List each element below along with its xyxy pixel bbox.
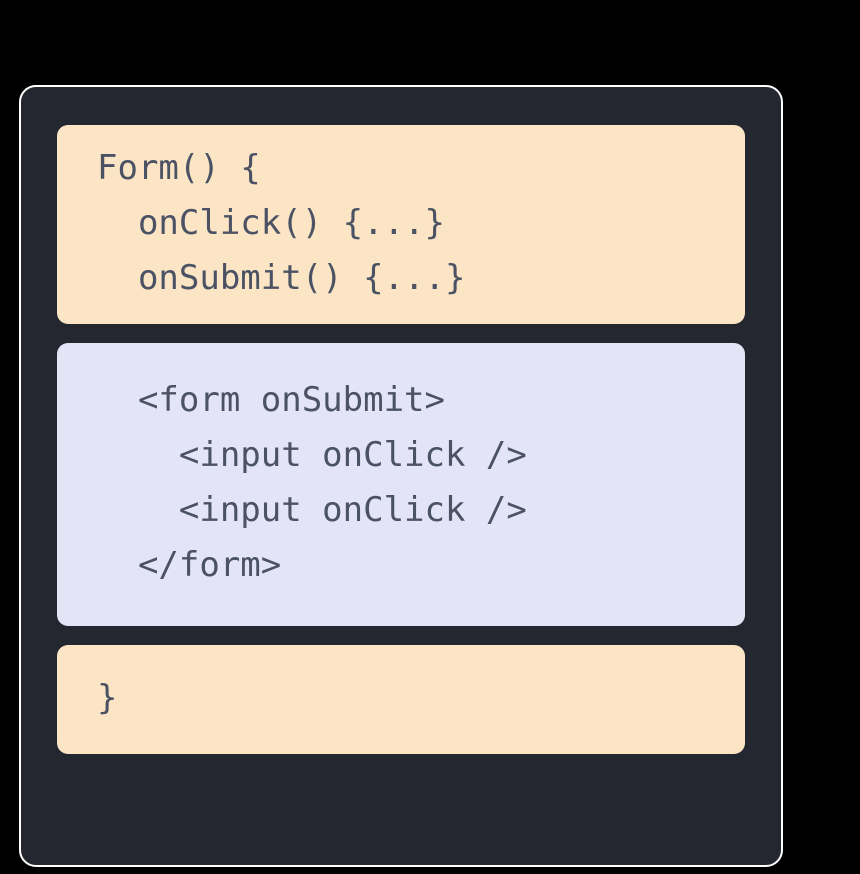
- code-line: <input onClick />: [57, 428, 745, 483]
- code-line: Form() {: [57, 141, 745, 196]
- code-block-signature: Form() { onClick() {...} onSubmit() {...…: [57, 125, 745, 324]
- code-line: onSubmit() {...}: [57, 251, 745, 306]
- code-line: </form>: [57, 538, 745, 593]
- code-line: <form onSubmit>: [57, 373, 745, 428]
- code-line: }: [57, 671, 745, 726]
- code-line: <input onClick />: [57, 483, 745, 538]
- code-block-closing: }: [57, 645, 745, 754]
- diagram-canvas: Form() { onClick() {...} onSubmit() {...…: [0, 0, 860, 874]
- code-block-markup: <form onSubmit> <input onClick /> <input…: [57, 343, 745, 625]
- code-line: onClick() {...}: [57, 196, 745, 251]
- code-panel: Form() { onClick() {...} onSubmit() {...…: [19, 85, 783, 867]
